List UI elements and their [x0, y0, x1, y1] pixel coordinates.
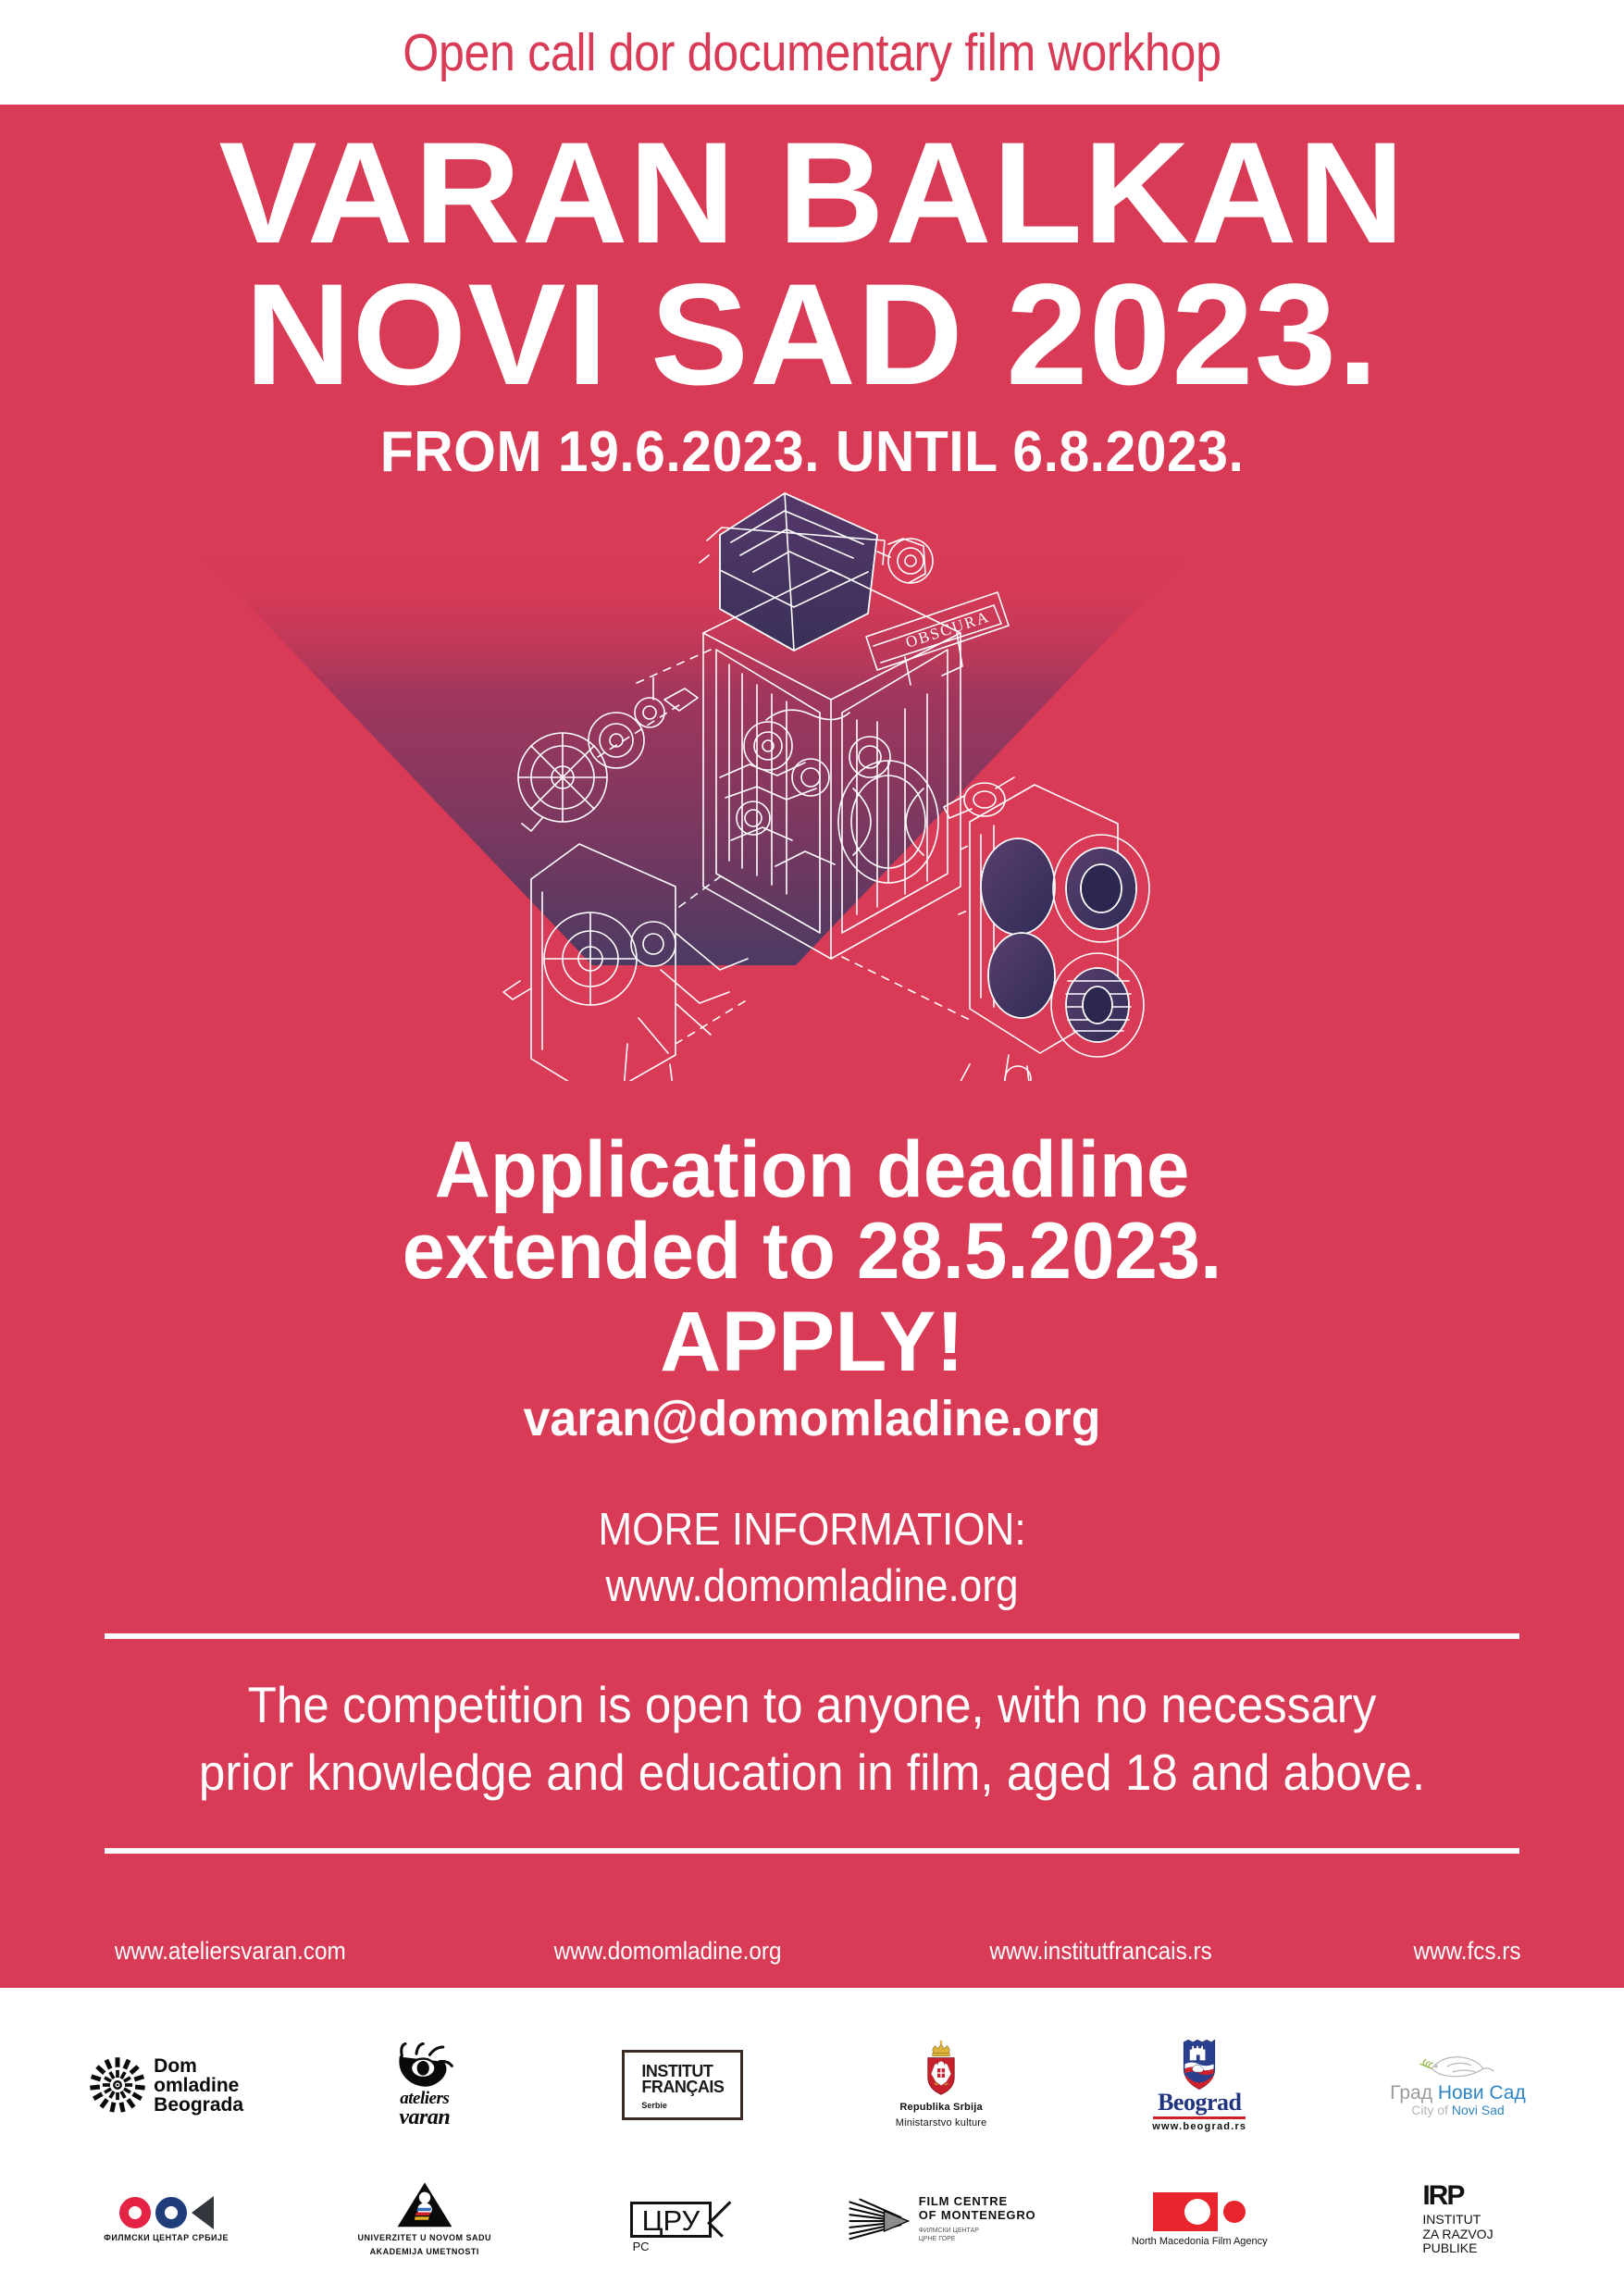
logo-institut-francais[interactable]: INSTITUT FRANÇAIS Serbie [553, 2016, 812, 2154]
logo-film-centre-montenegro[interactable]: FILM CENTRE OF MONTENEGRO ФИЛМСКИ ЦЕНТАР… [812, 2164, 1071, 2275]
partner-url-row: www.ateliersvaran.com www.domomladine.or… [102, 1937, 1527, 1966]
more-information-url[interactable]: www.domomladine.org [81, 1558, 1543, 1615]
logo-grad-beograd[interactable]: Beograd www.beograd.rs [1071, 2016, 1329, 2154]
novisad-latin-name: Novi Sad [1452, 2103, 1505, 2117]
nm-caption: North Macedonia Film Agency [1132, 2236, 1268, 2247]
logo-ateliers-varan[interactable]: ateliers varan [295, 2016, 553, 2154]
more-information-block: MORE INFORMATION: www.domomladine.org [0, 1502, 1624, 1615]
irp-line-2: ZA RAZVOJ [1422, 2228, 1493, 2242]
beograd-wordmark: Beograd [1158, 2091, 1241, 2115]
logo-filmski-centar-srbije[interactable]: ФИЛМСКИ ЦЕНТАР СРБИЈЕ [37, 2164, 295, 2275]
title-block: VARAN BALKAN NOVI SAD 2023. FROM 19.6.20… [0, 123, 1624, 485]
dom-line-1: Dom [154, 2056, 243, 2076]
nm-red-block-icon [1153, 2192, 1218, 2231]
mne-line-3: ФИЛМСКИ ЦЕНТАР [919, 2227, 1036, 2235]
mandala-icon [89, 2056, 146, 2114]
irp-line-1: INSTITUT [1422, 2213, 1493, 2228]
fcs-red-ring-icon [119, 2197, 151, 2228]
logo-north-macedonia-film-agency[interactable]: North Macedonia Film Agency [1071, 2164, 1329, 2275]
film-camera-illustration: OBSCURA [442, 452, 1183, 1081]
novisad-cityof: City of [1411, 2103, 1448, 2117]
partner-url-institutfrancais[interactable]: www.institutfrancais.rs [990, 1937, 1212, 1966]
logo-republika-srbija[interactable]: Republika Srbija Ministarstvo kulture [812, 2016, 1071, 2154]
nm-red-dot-icon [1223, 2201, 1246, 2223]
nm-mark [1153, 2192, 1246, 2231]
fcs-blue-ring-icon [155, 2197, 187, 2228]
deadline-line-1: Application deadline [24, 1130, 1599, 1211]
beograd-crest-icon [1179, 2039, 1220, 2091]
logo-row-1: Dom omladine Beograda [37, 2016, 1587, 2154]
title-line-2: NOVI SAD 2023. [0, 265, 1624, 406]
poster-root: Open call dor documentary film workhop V… [0, 0, 1624, 2296]
cru-chevron-icon [707, 2201, 744, 2238]
if-line-1: INSTITUT [641, 2064, 724, 2079]
beograd-underline [1153, 2116, 1246, 2119]
dove-olive-branch-icon [1418, 2052, 1497, 2083]
logos-footer: Dom omladine Beograda [0, 1988, 1624, 2296]
if-country: Serbie [641, 2101, 724, 2110]
varan-line-2: varan [399, 2107, 450, 2128]
novisad-grad: Град [1390, 2082, 1432, 2104]
dom-line-2: omladine [154, 2076, 243, 2095]
eye-icon [394, 2042, 455, 2091]
novi-sad-wordmark-cyrillic: Град Нови Сад [1390, 2083, 1526, 2103]
partner-url-ateliersvaran[interactable]: www.ateliersvaran.com [115, 1937, 346, 1966]
srbija-line-2: Ministarstvo kulture [896, 2117, 987, 2129]
logo-dom-omladine-beograda[interactable]: Dom omladine Beograda [37, 2016, 295, 2154]
competition-line-2: prior knowledge and education in film, a… [56, 1739, 1567, 1806]
competition-line-1: The competition is open to anyone, with … [56, 1671, 1567, 1739]
header-band: Open call dor documentary film workhop [0, 0, 1624, 105]
application-email[interactable]: varan@domomladine.org [32, 1390, 1592, 1447]
logo-row-2: ФИЛМСКИ ЦЕНТАР СРБИЈЕ UNIVERZITET U NOVO… [37, 2164, 1587, 2275]
fcs-caption: ФИЛМСКИ ЦЕНТАР СРБИЈЕ [104, 2233, 229, 2243]
irp-line-3: PUBLIKE [1422, 2241, 1493, 2256]
nm-white-dot-icon [1184, 2199, 1210, 2225]
mne-line-4: ЦРНЕ ГОРЕ [919, 2235, 1036, 2243]
beograd-url: www.beograd.rs [1152, 2121, 1246, 2132]
partner-url-domomladine[interactable]: www.domomladine.org [554, 1937, 782, 1966]
logo-grad-novi-sad[interactable]: Град Нови Сад City of Novi Sad [1329, 2016, 1587, 2154]
dom-omladine-wordmark: Dom omladine Beograda [154, 2056, 243, 2115]
main-red-panel: VARAN BALKAN NOVI SAD 2023. FROM 19.6.20… [0, 105, 1624, 1988]
logo-cru-rs[interactable]: ЦРУ РС [553, 2164, 812, 2275]
partner-url-fcs[interactable]: www.fcs.rs [1413, 1937, 1520, 1966]
cru-cyrillic: ЦРУ [642, 2204, 700, 2237]
akademija-line-2: AKADEMIJA UMETNOSTI [370, 2247, 479, 2257]
divider-top [105, 1633, 1519, 1639]
divider-bottom [105, 1848, 1519, 1854]
institut-francais-box: INSTITUT FRANÇAIS Serbie [622, 2050, 743, 2121]
montenegro-fan-icon [847, 2197, 911, 2241]
cru-box: ЦРУ РС [630, 2202, 713, 2238]
srbija-line-1: Republika Srbija [899, 2102, 982, 2114]
title-line-1: VARAN BALKAN [0, 123, 1624, 265]
svg-text:OBSCURA: OBSCURA [903, 608, 992, 652]
akademija-line-1: UNIVERZITET U NOVOM SADU [358, 2233, 492, 2243]
if-line-2: FRANÇAIS [641, 2079, 724, 2095]
cru-rs-label: РС [633, 2240, 652, 2253]
logo-akademija-umetnosti[interactable]: UNIVERZITET U NOVOM SADU AKADEMIJA UMETN… [295, 2164, 553, 2275]
deadline-line-2: extended to 28.5.2023. [24, 1211, 1599, 1293]
apply-callout: APPLY! [0, 1299, 1624, 1384]
more-information-label: MORE INFORMATION: [81, 1502, 1543, 1558]
novi-sad-wordmark-latin: City of Novi Sad [1411, 2103, 1504, 2118]
competition-terms: The competition is open to anyone, with … [0, 1671, 1624, 1806]
serbia-coat-of-arms-icon [921, 2041, 961, 2098]
ateliers-varan-wordmark: ateliers varan [399, 2091, 450, 2128]
irp-wordmark: IRP [1422, 2182, 1493, 2210]
deadline-block: Application deadline extended to 28.5.20… [0, 1130, 1624, 1447]
logo-institut-za-razvoj-publike[interactable]: IRP INSTITUT ZA RAZVOJ PUBLIKE [1329, 2164, 1587, 2275]
novisad-name: Нови Сад [1438, 2082, 1526, 2104]
akademija-triangle-icon [396, 2181, 453, 2229]
open-call-tagline: Open call dor documentary film workhop [403, 22, 1221, 83]
cru-mark: ЦРУ РС [630, 2202, 737, 2238]
dom-line-3: Beograda [154, 2095, 243, 2115]
mne-line-2: OF MONTENEGRO [919, 2209, 1036, 2223]
fcs-play-triangle-icon [192, 2196, 214, 2229]
mne-line-1: FILM CENTRE [919, 2195, 1036, 2209]
fcs-mark [119, 2196, 214, 2229]
